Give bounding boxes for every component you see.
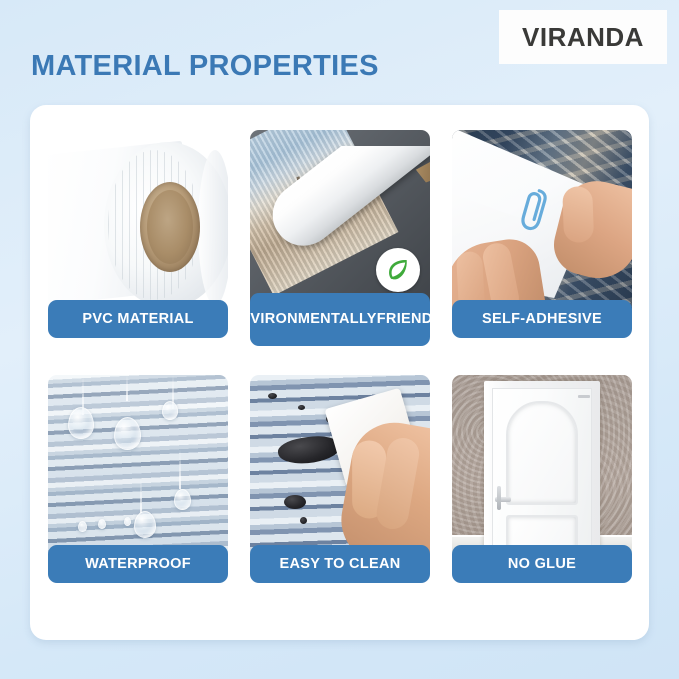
feature-label-no-glue: NO GLUE <box>452 545 632 583</box>
water-streak <box>179 449 181 489</box>
page-title: MATERIAL PROPERTIES <box>31 50 379 83</box>
water-droplet <box>98 519 106 529</box>
feature-card-self-adhesive[interactable]: SELF-ADHESIVE <box>452 130 632 355</box>
door-handle-icon <box>495 497 511 502</box>
brand-logo: VIRANDA <box>499 10 667 64</box>
stain-spot <box>298 405 305 410</box>
water-droplet <box>174 489 191 510</box>
pvc-roll-highlight-shape <box>198 150 228 305</box>
feature-card-environmentally-friendly[interactable]: ENVIRONMENTALLY FRIENDLY <box>250 130 430 355</box>
brand-name: VIRANDA <box>522 22 644 53</box>
door-panel-top-shape <box>506 401 578 505</box>
feature-label-line2: FRIENDLY <box>377 311 451 327</box>
feature-label-line1: ENVIRONMENTALLY <box>230 311 377 327</box>
stain-spot <box>268 393 277 399</box>
water-droplet <box>68 407 94 439</box>
feature-card-no-glue[interactable]: NO GLUE <box>452 375 632 600</box>
water-droplet <box>134 511 156 538</box>
door-slab-shape <box>492 388 592 565</box>
feature-grid: PVC MATERIAL ENVIRONMENTALLY <box>48 130 631 600</box>
feature-card-waterproof[interactable]: WATERPROOF <box>48 375 228 600</box>
pvc-core-inner-shape <box>147 190 193 264</box>
feature-label-environmentally-friendly: ENVIRONMENTALLY FRIENDLY <box>250 293 430 346</box>
leaf-badge <box>376 248 420 292</box>
stain-spot <box>300 517 307 524</box>
water-streak <box>126 375 128 401</box>
feature-label-pvc-material: PVC MATERIAL <box>48 300 228 338</box>
self-adhesive-image <box>452 130 632 320</box>
no-glue-image <box>452 375 632 565</box>
feature-label-self-adhesive: SELF-ADHESIVE <box>452 300 632 338</box>
eco-roll-tube-shape <box>270 146 430 258</box>
door-frame-shape <box>484 381 600 565</box>
water-streak <box>140 479 142 513</box>
feature-label-waterproof: WATERPROOF <box>48 545 228 583</box>
water-droplet <box>124 517 131 526</box>
water-droplet <box>114 417 141 450</box>
stain-spot <box>284 495 306 509</box>
feature-label-easy-to-clean: EASY TO CLEAN <box>250 545 430 583</box>
waterproof-image <box>48 375 228 565</box>
leaf-icon <box>384 256 412 284</box>
pvc-roll-image <box>48 130 228 320</box>
easy-to-clean-image <box>250 375 430 565</box>
feature-card-pvc-material[interactable]: PVC MATERIAL <box>48 130 228 355</box>
door-top-marker-shape <box>578 395 590 398</box>
water-droplet <box>78 521 87 532</box>
eco-roll-image <box>250 130 430 320</box>
features-panel: PVC MATERIAL ENVIRONMENTALLY <box>30 105 649 640</box>
water-droplet <box>162 401 178 420</box>
feature-card-easy-to-clean[interactable]: EASY TO CLEAN <box>250 375 430 600</box>
